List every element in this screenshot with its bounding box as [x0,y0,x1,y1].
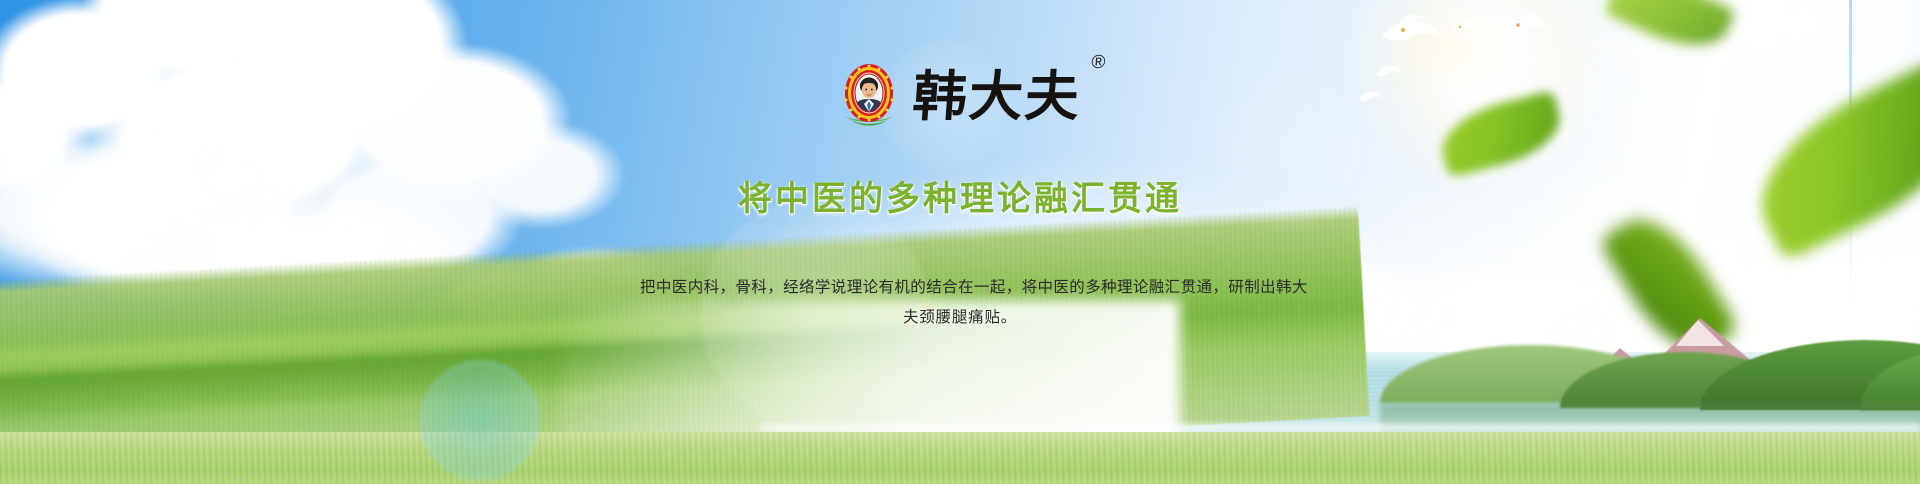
banner-content: 韩大夫 ® 将中医的多种理论融汇贯通 把中医内科，骨科，经络学说理论有机的结合在… [0,0,1920,484]
registered-trademark-mark: ® [1091,53,1108,72]
hero-banner: 韩大夫 ® 将中医的多种理论融汇贯通 把中医内科，骨科，经络学说理论有机的结合在… [0,0,1920,484]
brand-logo[interactable]: 韩大夫 ® [0,60,1920,132]
body-paragraph: 把中医内科，骨科，经络学说理论有机的结合在一起，将中医的多种理论融汇贯通，研制出… [640,272,1280,332]
body-line-2: 夫颈腰腿痛贴。 [640,302,1280,332]
doctor-portrait-medallion-icon [839,60,899,132]
body-line-1: 把中医内科，骨科，经络学说理论有机的结合在一起，将中医的多种理论融汇贯通，研制出… [640,272,1280,302]
brand-wordmark: 韩大夫 ® [911,69,1083,123]
headline-text: 将中医的多种理论融汇贯通 [0,171,1920,220]
brand-wordmark-text: 韩大夫 [911,64,1083,128]
